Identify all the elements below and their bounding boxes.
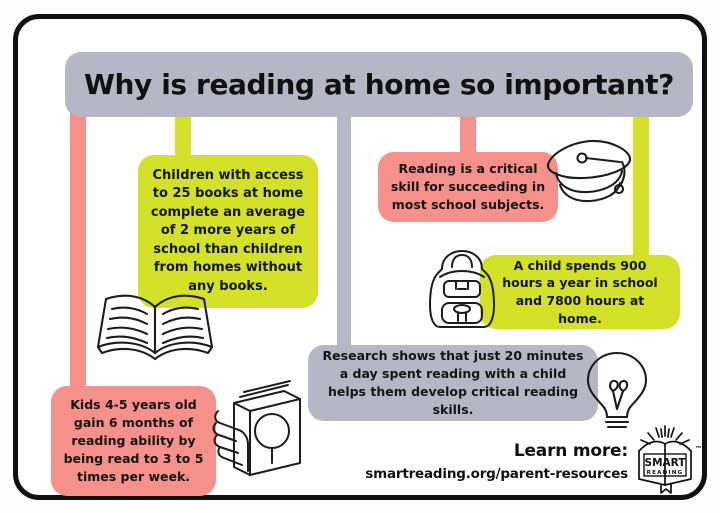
callout-kids: Kids 4-5 years old gain 6 months of read… bbox=[51, 386, 216, 496]
callout-critical-skill: Reading is a critical skill for succeedi… bbox=[378, 152, 558, 222]
learn-more-label: Learn more: bbox=[348, 441, 628, 461]
logo-primary-text: SMART bbox=[645, 457, 687, 469]
trademark-symbol: ™ bbox=[695, 445, 702, 453]
backpack-icon bbox=[422, 247, 502, 333]
logo-secondary-text: READING bbox=[647, 470, 684, 476]
callout-hours-text: A child spends 900 hours a year in schoo… bbox=[492, 257, 668, 328]
learn-more-url[interactable]: smartreading.org/parent-resources bbox=[348, 466, 628, 482]
open-book-icon bbox=[90, 281, 220, 371]
callout-books-text: Children with access to 25 books at home… bbox=[150, 167, 306, 296]
callout-kids-text: Kids 4-5 years old gain 6 months of read… bbox=[61, 396, 206, 487]
callout-hours: A child spends 900 hours a year in schoo… bbox=[480, 255, 680, 329]
connector-grey-research bbox=[337, 104, 351, 364]
connector-pink-left bbox=[70, 104, 86, 404]
poster-card: Why is reading at home so important? Chi… bbox=[13, 14, 707, 500]
callout-critical-skill-text: Reading is a critical skill for succeedi… bbox=[390, 160, 546, 213]
infographic-canvas: Why is reading at home so important? Chi… bbox=[0, 0, 720, 513]
page-title-text: Why is reading at home so important? bbox=[84, 68, 674, 101]
hand-holding-book-icon bbox=[210, 375, 315, 485]
page-title: Why is reading at home so important? bbox=[65, 52, 693, 117]
callout-research: Research shows that just 20 minutes a da… bbox=[308, 345, 598, 421]
smart-reading-logo: SMART READING ™ bbox=[631, 423, 701, 495]
lightbulb-icon bbox=[578, 347, 656, 433]
callout-research-text: Research shows that just 20 minutes a da… bbox=[322, 347, 584, 420]
graduation-cap-icon bbox=[540, 131, 645, 219]
learn-more-block: Learn more: smartreading.org/parent-reso… bbox=[348, 441, 628, 482]
